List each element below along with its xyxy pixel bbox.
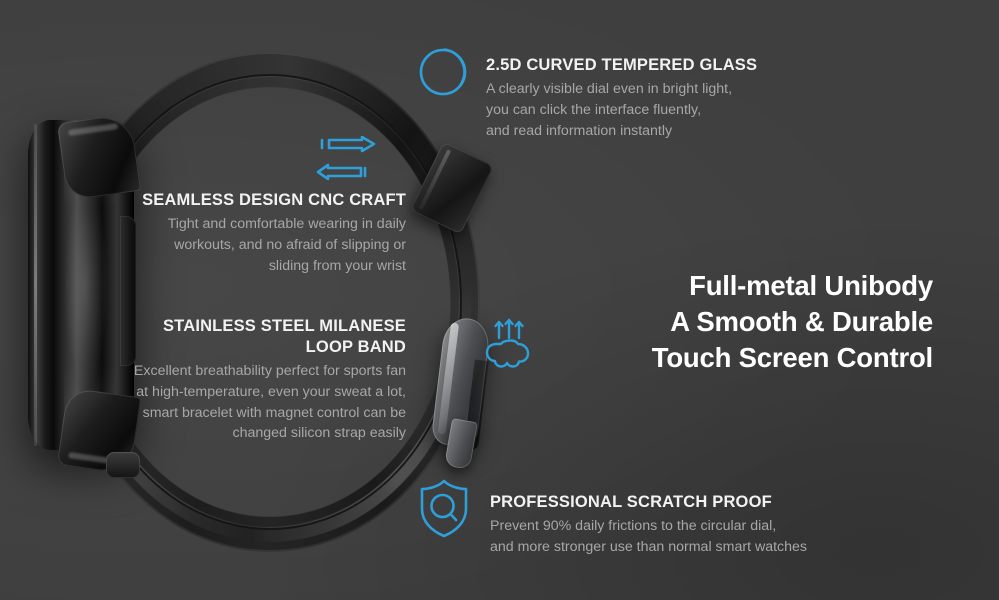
feature-description: Tight and comfortable wearing in daily w… [118,214,406,276]
product-feature-poster: 2.5D CURVED TEMPERED GLASS A clearly vis… [0,0,999,600]
exchange-arrows-icon [316,136,378,180]
feature-seamless-cnc-craft: SEAMLESS DESIGN CNC CRAFT Tight and comf… [118,190,406,276]
watch-crown-button [106,452,140,478]
feature-title: 2.5D CURVED TEMPERED GLASS [486,55,786,76]
feature-description: Excellent breathability perfect for spor… [106,361,406,444]
product-image-smartwatch [0,0,560,600]
feature-description: A clearly visible dial even in bright li… [486,79,786,141]
feature-milanese-loop-band: STAINLESS STEEL MILANESE LOOP BAND Excel… [106,316,406,444]
curved-glass-circle-icon [418,44,472,98]
feature-title: STAINLESS STEEL MILANESE LOOP BAND [106,316,406,358]
feature-professional-scratch-proof: PROFESSIONAL SCRATCH PROOF Prevent 90% d… [490,492,840,558]
case-left-edge-highlight [34,124,37,446]
feature-title: SEAMLESS DESIGN CNC CRAFT [118,190,406,211]
feature-description: Prevent 90% daily frictions to the circu… [490,516,840,557]
headline-text: Full-metal Unibody A Smooth & Durable To… [533,268,933,375]
breathability-cloud-arrows-icon [484,316,540,372]
shield-magnifier-icon [416,478,472,540]
feature-curved-tempered-glass: 2.5D CURVED TEMPERED GLASS A clearly vis… [486,55,786,141]
feature-title: PROFESSIONAL SCRATCH PROOF [490,492,840,513]
